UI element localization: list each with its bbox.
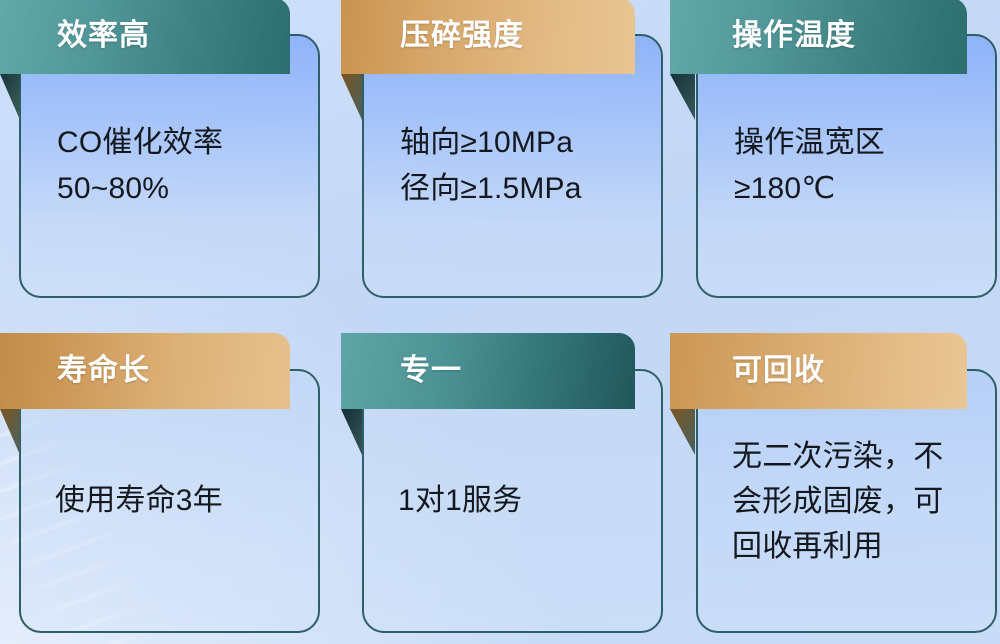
- card-ribbon-header: 效率高: [0, 0, 290, 74]
- card-ribbon-header: 寿命长: [0, 333, 290, 409]
- feature-card-recyclable[interactable]: 可回收 无二次污染，不 会形成固废，可 回收再利用: [696, 333, 999, 635]
- card-title: 专一: [341, 356, 462, 386]
- card-ribbon-header: 压碎强度: [341, 0, 635, 74]
- feature-card-crush-strength[interactable]: 压碎强度 轴向≥10MPa 径向≥1.5MPa: [362, 0, 665, 300]
- feature-card-efficiency[interactable]: 效率高 CO催化效率 50~80%: [19, 0, 322, 300]
- feature-card-dedicated-service[interactable]: 专一 1对1服务: [362, 333, 665, 635]
- card-ribbon-header: 操作温度: [670, 0, 967, 74]
- feature-cards-infographic: 效率高 CO催化效率 50~80%: [0, 0, 1000, 644]
- card-title: 压碎强度: [341, 21, 524, 51]
- card-title: 可回收: [670, 356, 825, 386]
- ribbon-fold-corner: [0, 409, 20, 455]
- ribbon-fold-corner: [670, 409, 695, 455]
- feature-card-long-life[interactable]: 寿命长 使用寿命3年: [19, 333, 322, 635]
- card-title: 寿命长: [0, 356, 150, 386]
- card-ribbon-header: 专一: [341, 333, 635, 409]
- ribbon-fold-corner: [670, 74, 695, 120]
- feature-card-operating-temperature[interactable]: 操作温度 操作温宽区 ≥180℃: [696, 0, 999, 300]
- ribbon-fold-corner: [0, 74, 20, 120]
- card-title: 操作温度: [670, 21, 856, 51]
- card-ribbon-header: 可回收: [670, 333, 967, 409]
- ribbon-fold-corner: [341, 74, 361, 120]
- ribbon-fold-corner: [341, 409, 361, 455]
- cards-grid: 效率高 CO催化效率 50~80%: [0, 0, 1000, 644]
- card-title: 效率高: [0, 21, 150, 51]
